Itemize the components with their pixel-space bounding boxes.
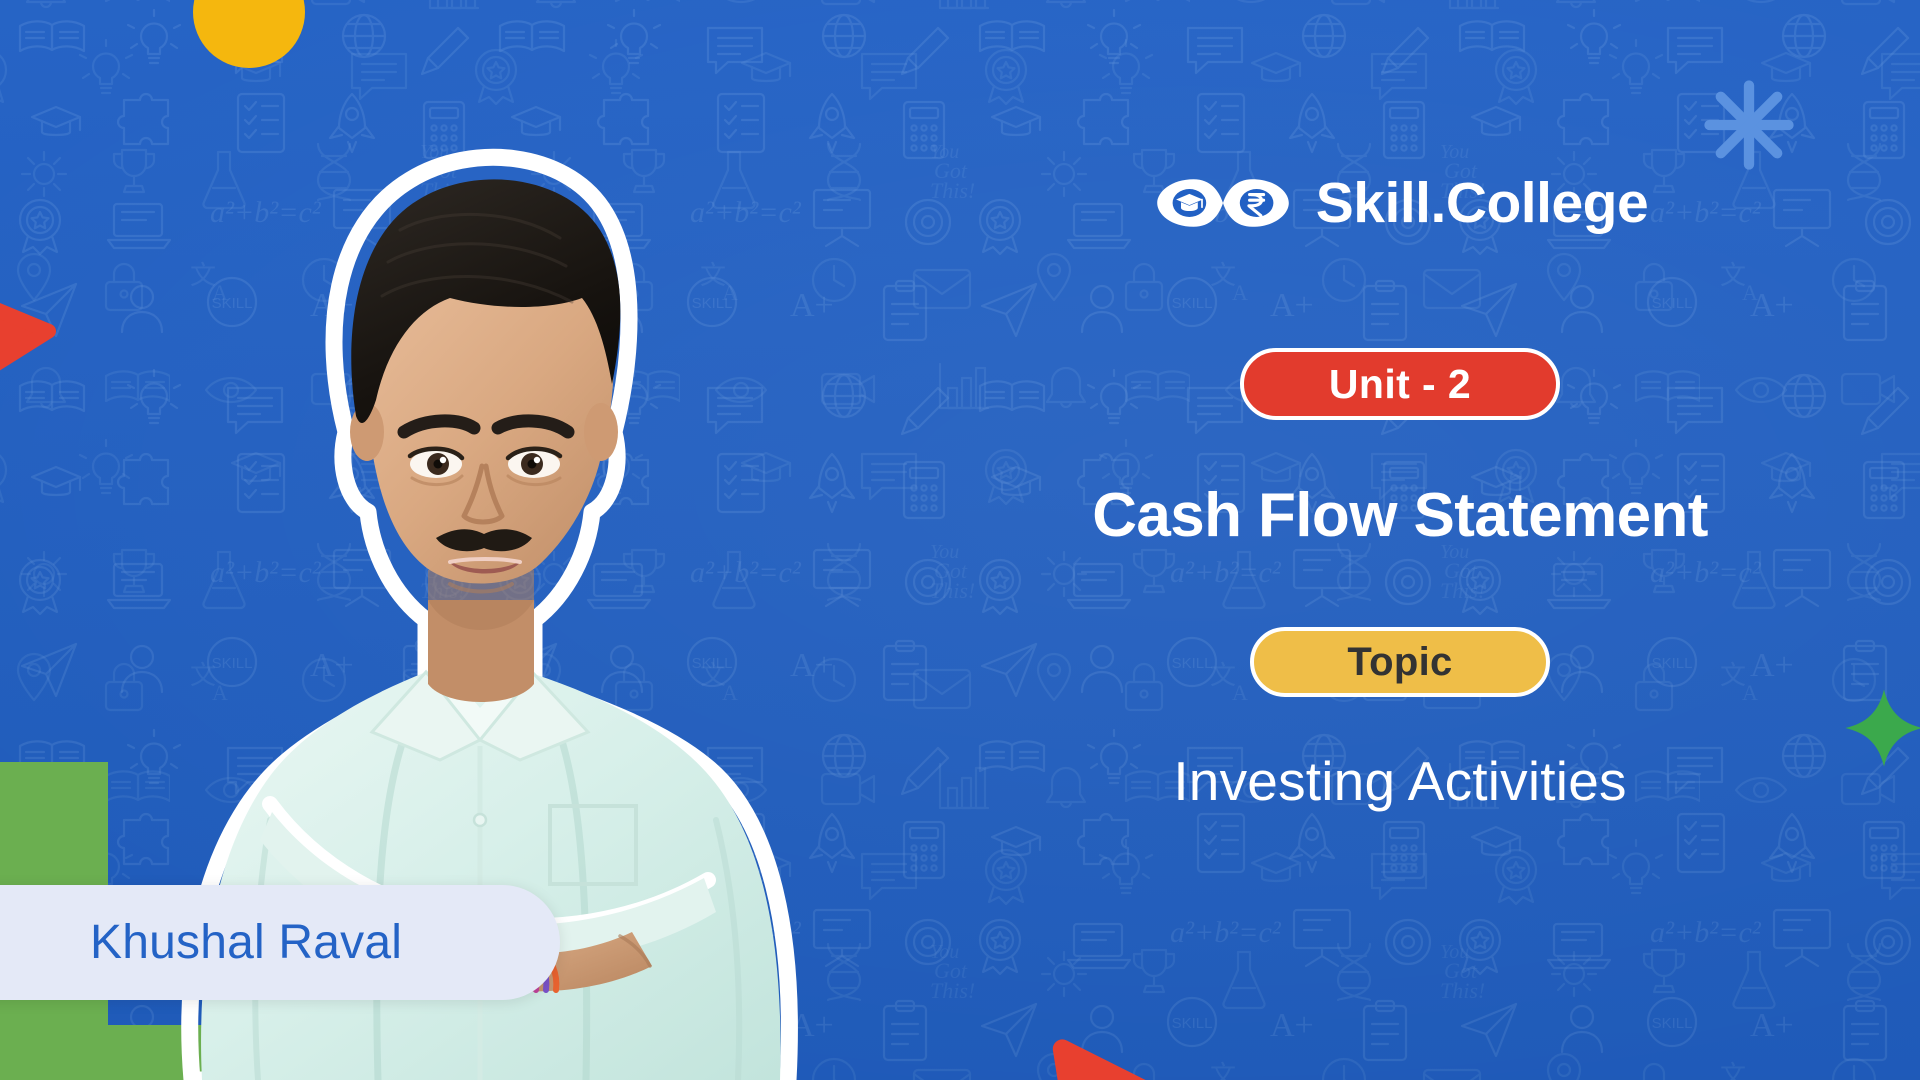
topic-badge[interactable]: Topic <box>1250 627 1550 697</box>
unit-badge[interactable]: Unit - 2 <box>1240 348 1560 420</box>
infinity-graduation-rupee-icon <box>1152 168 1294 238</box>
content-column: Skill.College Unit - 2 Cash Flow Stateme… <box>880 0 1920 1080</box>
presenter-name: Khushal Raval <box>90 915 402 970</box>
red-triangle-left-decoration <box>0 287 56 379</box>
brand-logo[interactable]: Skill.College <box>1152 168 1648 238</box>
unit-badge-label: Unit - 2 <box>1329 361 1471 408</box>
slide-canvas: a²+b²=c² A+ <box>0 0 1920 1080</box>
topic-badge-label: Topic <box>1347 640 1452 685</box>
yellow-circle-decoration <box>193 0 305 68</box>
brand-name: Skill.College <box>1316 175 1648 232</box>
topic-name: Investing Activities <box>1173 749 1626 813</box>
course-title: Cash Flow Statement <box>1092 480 1708 551</box>
presenter-nameplate: Khushal Raval <box>0 885 560 1000</box>
